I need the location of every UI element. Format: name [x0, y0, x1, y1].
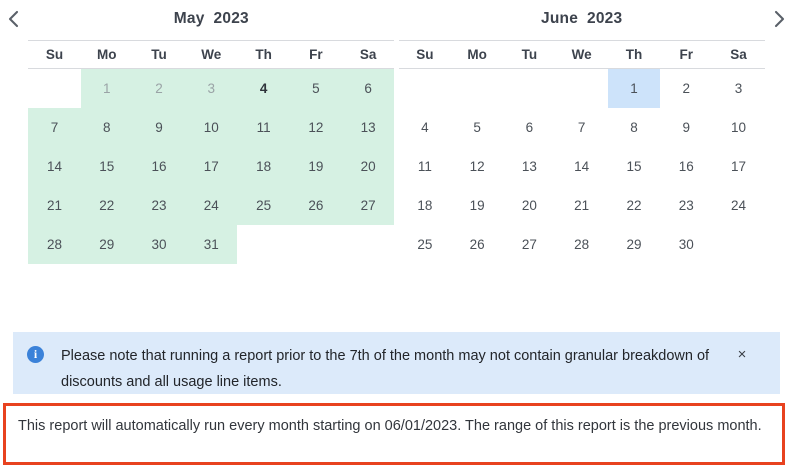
calendar-day[interactable]: 22	[81, 186, 133, 225]
weekday-th: Th	[608, 41, 660, 69]
calendar-day[interactable]: 5	[290, 69, 342, 109]
calendar-week-row: 123456	[28, 69, 394, 109]
calendar-day[interactable]: 21	[28, 186, 80, 225]
weekday-header-row: Su Mo Tu We Th Fr Sa	[28, 41, 394, 69]
calendar-month-left: May 2023 Su Mo Tu We Th Fr Sa 1234567891…	[28, 0, 394, 300]
weekday-we: We	[556, 41, 608, 69]
calendar-day[interactable]: 4	[399, 108, 451, 147]
calendar-month-right: June 2023 Su Mo Tu We Th Fr Sa 123456789…	[399, 0, 765, 300]
calendar-day[interactable]: 16	[133, 147, 185, 186]
calendar-day[interactable]: 28	[556, 225, 608, 264]
calendar-day[interactable]: 20	[342, 147, 394, 186]
schedule-note-box: This report will automatically run every…	[3, 403, 785, 465]
chevron-left-icon[interactable]	[1, 6, 27, 32]
calendar-day[interactable]: 26	[451, 225, 503, 264]
calendar-day[interactable]: 27	[342, 186, 394, 225]
calendar-day[interactable]: 1	[81, 69, 133, 109]
calendar-day[interactable]: 24	[185, 186, 237, 225]
calendar-day[interactable]: 10	[712, 108, 764, 147]
date-range-picker: May 2023 Su Mo Tu We Th Fr Sa 1234567891…	[0, 0, 793, 300]
month-title-right: June 2023	[399, 4, 765, 34]
calendar-day[interactable]: 13	[342, 108, 394, 147]
chevron-right-icon[interactable]	[766, 6, 792, 32]
calendar-day[interactable]: 30	[133, 225, 185, 264]
calendar-day[interactable]: 25	[237, 186, 289, 225]
weekday-sa: Sa	[342, 41, 394, 69]
calendar-day[interactable]: 29	[81, 225, 133, 264]
calendar-day-empty	[237, 225, 289, 264]
calendar-week-row: 21222324252627	[28, 186, 394, 225]
weekday-mo: Mo	[81, 41, 133, 69]
weekday-su: Su	[28, 41, 80, 69]
calendar-day[interactable]: 20	[503, 186, 555, 225]
calendar-day[interactable]: 12	[451, 147, 503, 186]
calendar-day[interactable]: 14	[28, 147, 80, 186]
calendar-day[interactable]: 12	[290, 108, 342, 147]
calendar-day[interactable]: 13	[503, 147, 555, 186]
calendar-day[interactable]: 26	[290, 186, 342, 225]
calendar-day[interactable]: 31	[185, 225, 237, 264]
calendar-week-row: 45678910	[399, 108, 765, 147]
calendar-day[interactable]: 11	[237, 108, 289, 147]
calendar-day[interactable]: 24	[712, 186, 764, 225]
weekday-tu: Tu	[133, 41, 185, 69]
calendar-day[interactable]: 18	[399, 186, 451, 225]
calendar-day[interactable]: 19	[290, 147, 342, 186]
calendar-day[interactable]: 2	[133, 69, 185, 109]
calendar-day[interactable]: 21	[556, 186, 608, 225]
calendar-day-empty	[556, 69, 608, 109]
calendar-day-empty	[342, 225, 394, 264]
calendar-day[interactable]: 17	[712, 147, 764, 186]
calendar-day[interactable]: 7	[556, 108, 608, 147]
calendar-day[interactable]: 6	[503, 108, 555, 147]
calendar-day[interactable]: 25	[399, 225, 451, 264]
calendar-day[interactable]: 23	[660, 186, 712, 225]
calendar-day[interactable]: 30	[660, 225, 712, 264]
calendar-day[interactable]: 8	[608, 108, 660, 147]
calendar-day[interactable]: 27	[503, 225, 555, 264]
calendar-grid-left: Su Mo Tu We Th Fr Sa 1234567891011121314…	[28, 40, 394, 264]
close-icon[interactable]: ×	[733, 345, 751, 363]
calendar-week-row: 14151617181920	[28, 147, 394, 186]
calendar-day[interactable]: 16	[660, 147, 712, 186]
calendar-day[interactable]: 9	[660, 108, 712, 147]
calendar-day[interactable]: 7	[28, 108, 80, 147]
schedule-note-text: This report will automatically run every…	[18, 413, 770, 439]
weekday-mo: Mo	[451, 41, 503, 69]
calendar-day[interactable]: 6	[342, 69, 394, 109]
calendar-day[interactable]: 4	[237, 69, 289, 109]
calendar-day[interactable]: 15	[81, 147, 133, 186]
weekday-su: Su	[399, 41, 451, 69]
calendar-day[interactable]: 2	[660, 69, 712, 109]
info-banner: i Please note that running a report prio…	[13, 332, 780, 394]
calendar-day-selected[interactable]: 1	[608, 69, 660, 108]
calendar-day[interactable]: 3	[185, 69, 237, 109]
month-title-left: May 2023	[28, 4, 394, 34]
weekday-th: Th	[237, 41, 289, 69]
weekday-sa: Sa	[712, 41, 764, 69]
calendar-day-empty	[28, 69, 80, 109]
calendar-day[interactable]: 17	[185, 147, 237, 186]
weekday-fr: Fr	[660, 41, 712, 69]
calendar-day[interactable]: 3	[712, 69, 764, 109]
calendar-day[interactable]: 29	[608, 225, 660, 264]
calendar-day-empty	[712, 225, 764, 264]
calendar-day-empty	[503, 69, 555, 109]
calendar-day[interactable]: 10	[185, 108, 237, 147]
calendar-day[interactable]: 15	[608, 147, 660, 186]
weekday-we: We	[185, 41, 237, 69]
calendar-day-empty	[399, 69, 451, 109]
weekday-header-row: Su Mo Tu We Th Fr Sa	[399, 41, 765, 69]
calendar-week-row: 78910111213	[28, 108, 394, 147]
calendar-body-right: 1234567891011121314151617181920212223242…	[399, 69, 765, 265]
info-banner-text: Please note that running a report prior …	[61, 343, 733, 395]
calendar-day[interactable]: 22	[608, 186, 660, 225]
info-icon: i	[27, 346, 44, 363]
calendar-day[interactable]: 11	[399, 147, 451, 186]
prev-month-nav	[0, 0, 28, 300]
calendar-week-row: 252627282930	[399, 225, 765, 264]
next-month-nav	[765, 0, 793, 300]
calendar-day[interactable]: 19	[451, 186, 503, 225]
calendar-day[interactable]: 28	[28, 225, 80, 264]
calendar-week-row: 28293031	[28, 225, 394, 264]
weekday-tu: Tu	[503, 41, 555, 69]
calendar-week-row: 18192021222324	[399, 186, 765, 225]
calendar-body-left: 1234567891011121314151617181920212223242…	[28, 69, 394, 265]
calendar-day[interactable]: 23	[133, 186, 185, 225]
calendar-day[interactable]: 9	[133, 108, 185, 147]
calendar-day[interactable]: 1	[608, 69, 660, 109]
calendar-day[interactable]: 5	[451, 108, 503, 147]
calendar-week-row: 123	[399, 69, 765, 109]
calendar-week-row: 11121314151617	[399, 147, 765, 186]
calendar-grid-right: Su Mo Tu We Th Fr Sa 1234567891011121314…	[399, 40, 765, 264]
calendar-day[interactable]: 8	[81, 108, 133, 147]
calendar-day-empty	[451, 69, 503, 109]
calendar-day[interactable]: 14	[556, 147, 608, 186]
weekday-fr: Fr	[290, 41, 342, 69]
calendar-day-empty	[290, 225, 342, 264]
calendar-day[interactable]: 18	[237, 147, 289, 186]
